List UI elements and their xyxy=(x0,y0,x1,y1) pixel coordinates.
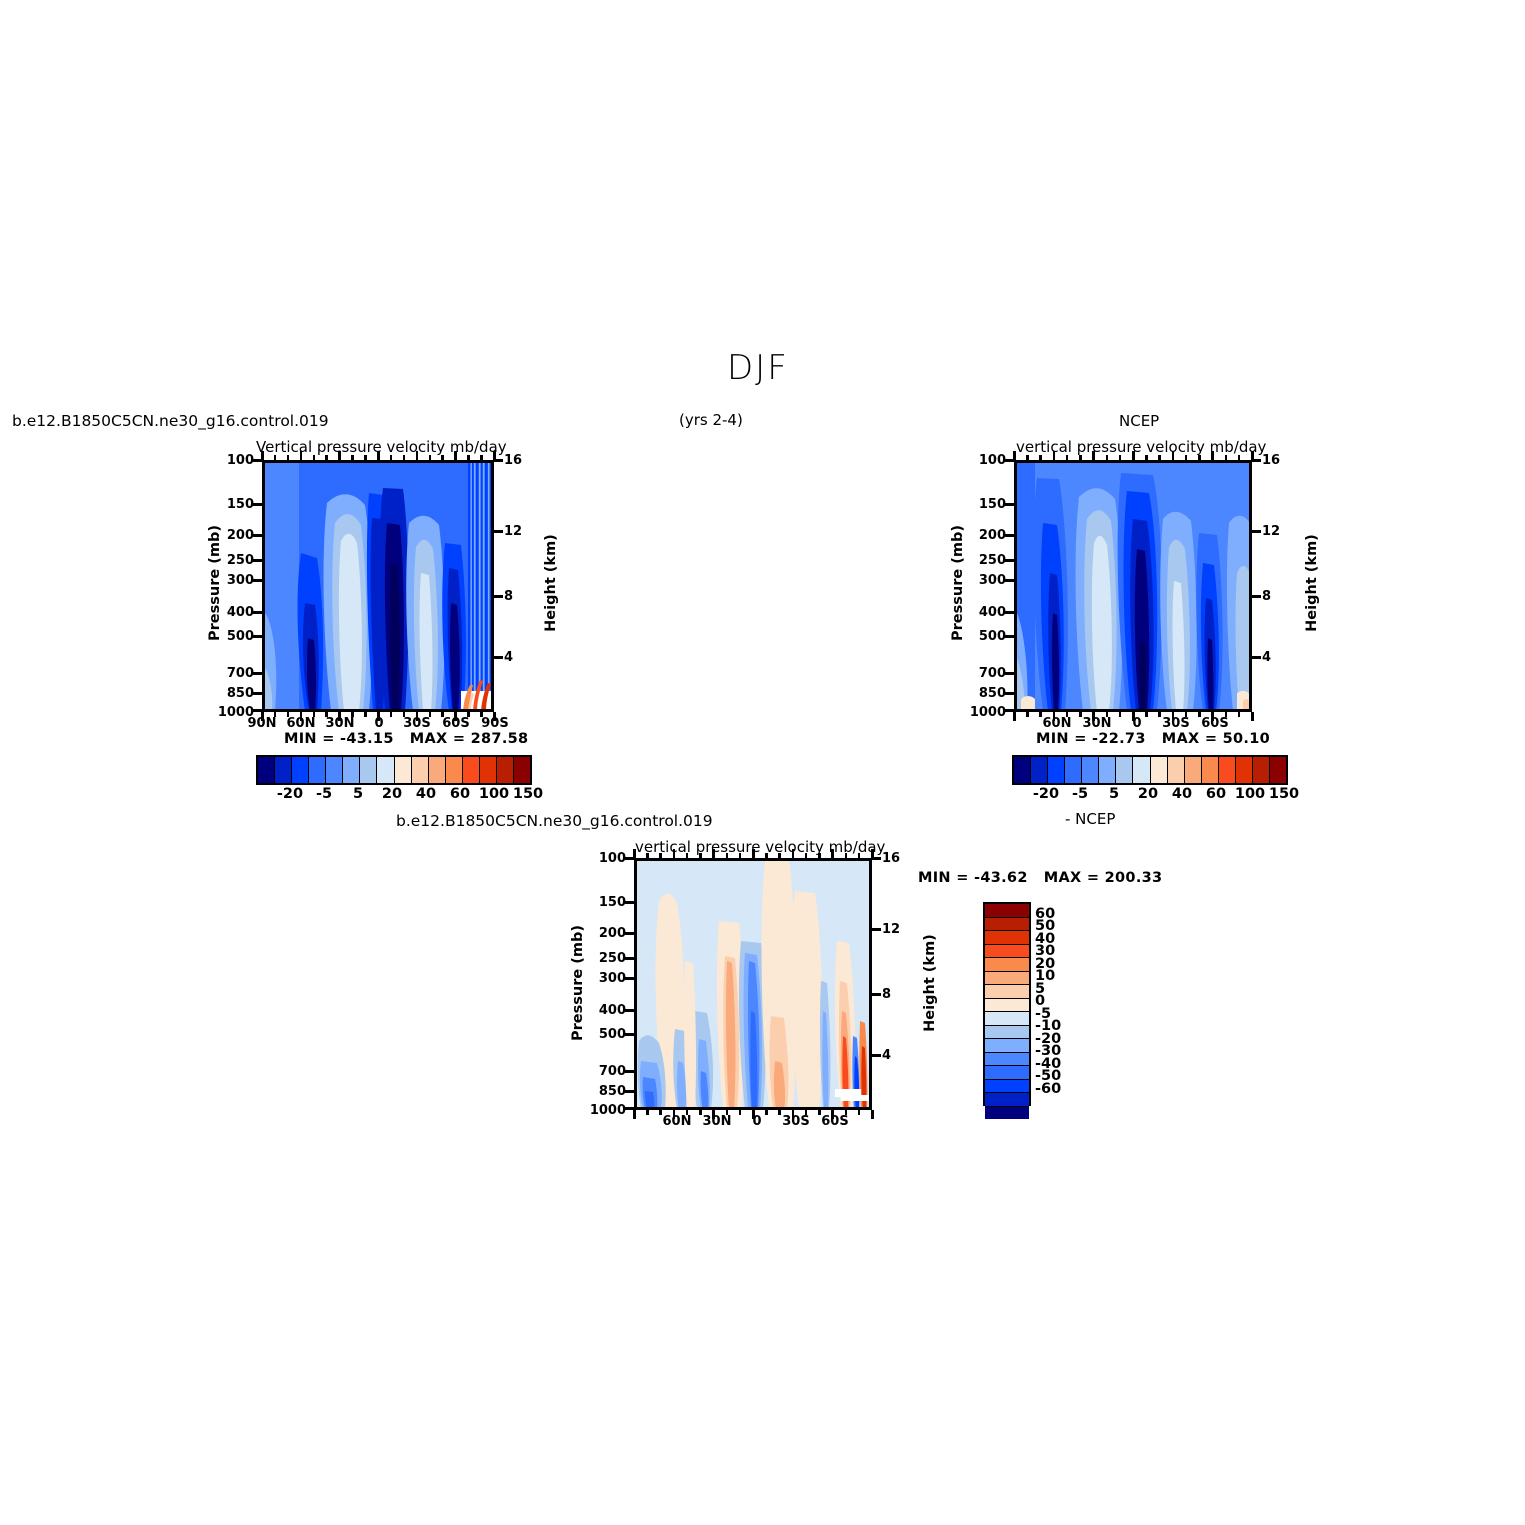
axis-tick xyxy=(1053,451,1056,460)
axis-tick xyxy=(1211,712,1214,721)
obs-contour-field xyxy=(1017,463,1251,711)
colorbar-cell xyxy=(1202,757,1219,783)
model-max-value: 287.58 xyxy=(471,731,529,747)
axis-tick xyxy=(403,455,406,460)
axis-tick xyxy=(765,1110,768,1115)
axis-tick xyxy=(416,712,419,721)
axis-tick xyxy=(377,712,380,721)
axis-tick xyxy=(1026,455,1029,460)
model-min-value: -43.15 xyxy=(340,731,394,747)
model-case-name: b.e12.B1850C5CN.ne30_g16.control.019 xyxy=(12,412,329,430)
axis-tick xyxy=(1066,712,1069,717)
axis-tick xyxy=(416,451,419,460)
axis-tick xyxy=(1225,455,1228,460)
colorbar-cell xyxy=(275,757,292,783)
colorbar-cell xyxy=(985,1066,1029,1080)
model-colorbar-labels: -20-55204060100150 xyxy=(256,786,532,806)
axis-tick xyxy=(467,712,470,717)
axis-tick xyxy=(1238,712,1241,717)
axis-tick xyxy=(739,1110,742,1115)
axis-tick xyxy=(1238,455,1241,460)
obs-ylabel-left: Pressure (mb) xyxy=(950,513,966,653)
axis-tick xyxy=(1092,712,1095,721)
colorbar-cell xyxy=(985,972,1029,986)
colorbar-cell xyxy=(292,757,309,783)
colorbar-cell xyxy=(985,958,1029,972)
axis-tick xyxy=(872,1054,881,1057)
axis-tick xyxy=(625,932,634,935)
axis-tick xyxy=(858,1110,861,1115)
colorbar-cell xyxy=(446,757,463,783)
axis-tick xyxy=(673,849,676,858)
axis-tick xyxy=(1158,712,1161,717)
colorbar-cell xyxy=(985,931,1029,945)
axis-tick xyxy=(625,1009,634,1012)
axis-tick xyxy=(1106,712,1109,717)
colorbar-cell xyxy=(985,1107,1029,1120)
axis-tick xyxy=(325,455,328,460)
axis-tick xyxy=(872,928,881,931)
colorbar-cell xyxy=(377,757,394,783)
axis-tick xyxy=(494,656,503,659)
axis-tick xyxy=(253,579,262,582)
colorbar-cell xyxy=(497,757,514,783)
axis-tick xyxy=(805,853,808,858)
axis-tick xyxy=(1092,451,1095,460)
axis-tick xyxy=(1039,455,1042,460)
axis-tick xyxy=(1225,712,1228,717)
model-min-label: MIN = xyxy=(284,731,335,747)
axis-tick xyxy=(338,451,341,460)
axis-tick xyxy=(1252,656,1261,659)
axis-tick xyxy=(253,635,262,638)
axis-tick xyxy=(726,1110,729,1115)
axis-tick xyxy=(845,1110,848,1115)
axis-tick xyxy=(1005,459,1014,462)
axis-tick xyxy=(253,709,262,712)
axis-tick xyxy=(441,712,444,717)
axis-tick xyxy=(871,1110,874,1119)
axis-tick xyxy=(792,849,795,858)
model-field-header: Vertical pressure velocity mb/day xyxy=(256,438,507,456)
colorbar-cell xyxy=(1253,757,1270,783)
colorbar-cell xyxy=(985,918,1029,932)
colorbar-cell xyxy=(1185,757,1202,783)
figure-title: DJF xyxy=(727,348,789,388)
axis-tick xyxy=(1211,451,1214,460)
diff-plot-frame xyxy=(634,858,872,1110)
colorbar-cell xyxy=(1133,757,1150,783)
axis-tick xyxy=(390,712,393,717)
obs-plot-frame xyxy=(1014,460,1252,712)
axis-tick xyxy=(1185,455,1188,460)
diff-contour-field xyxy=(637,861,871,1109)
colorbar-cell xyxy=(258,757,275,783)
axis-tick xyxy=(313,455,316,460)
axis-tick xyxy=(253,559,262,562)
axis-tick xyxy=(454,451,457,460)
axis-tick xyxy=(625,1107,634,1110)
obs-min-value: -22.73 xyxy=(1092,731,1146,747)
axis-tick xyxy=(1185,712,1188,717)
axis-tick xyxy=(441,455,444,460)
axis-tick xyxy=(493,712,496,721)
axis-tick xyxy=(1198,712,1201,717)
colorbar-cell xyxy=(326,757,343,783)
axis-tick xyxy=(1013,712,1016,721)
colorbar-cell xyxy=(412,757,429,783)
axis-tick xyxy=(287,455,290,460)
diff-colorbar-labels: 60504030201050-5-10-20-30-40-50-60 xyxy=(1031,902,1071,1102)
axis-tick xyxy=(261,712,264,721)
axis-tick xyxy=(625,1090,634,1093)
colorbar-cell xyxy=(343,757,360,783)
axis-tick xyxy=(659,1110,662,1115)
axis-tick xyxy=(1132,451,1135,460)
axis-tick xyxy=(325,712,328,717)
axis-tick xyxy=(778,853,781,858)
axis-tick xyxy=(1132,712,1135,721)
axis-tick xyxy=(1145,455,1148,460)
axis-tick xyxy=(625,857,634,860)
diff-ylabel-left: Pressure (mb) xyxy=(570,913,586,1053)
axis-tick xyxy=(625,901,634,904)
axis-tick xyxy=(1005,534,1014,537)
axis-tick xyxy=(1252,530,1261,533)
axis-tick xyxy=(494,459,503,462)
axis-tick xyxy=(351,712,354,717)
axis-tick xyxy=(818,853,821,858)
colorbar-cell xyxy=(985,1012,1029,1026)
axis-tick xyxy=(253,611,262,614)
axis-tick xyxy=(818,1110,821,1115)
model-ylabel-left: Pressure (mb) xyxy=(207,513,223,653)
colorbar-cell xyxy=(463,757,480,783)
model-minmax: MIN = -43.15 MAX = 287.58 xyxy=(284,731,528,747)
axis-tick xyxy=(765,853,768,858)
axis-tick xyxy=(1005,709,1014,712)
axis-tick xyxy=(752,849,755,858)
axis-tick xyxy=(351,455,354,460)
colorbar-cell xyxy=(985,1026,1029,1040)
colorbar-cell xyxy=(1031,757,1048,783)
diff-max-label: MAX = xyxy=(1044,870,1100,886)
axis-tick xyxy=(454,712,457,721)
axis-tick xyxy=(1005,692,1014,695)
axis-tick xyxy=(429,455,432,460)
axis-tick xyxy=(1252,459,1261,462)
axis-tick xyxy=(872,993,881,996)
colorbar-cell xyxy=(985,999,1029,1013)
axis-tick xyxy=(1005,672,1014,675)
axis-tick xyxy=(253,672,262,675)
axis-tick xyxy=(1172,712,1175,721)
axis-tick xyxy=(872,857,881,860)
axis-tick xyxy=(1005,635,1014,638)
colorbar-cell xyxy=(480,757,497,783)
axis-tick xyxy=(646,853,649,858)
axis-tick xyxy=(1005,559,1014,562)
colorbar-cell xyxy=(514,757,530,783)
axis-tick xyxy=(253,503,262,506)
colorbar-cell xyxy=(985,1053,1029,1067)
colorbar-cell xyxy=(1236,757,1253,783)
axis-tick xyxy=(1252,595,1261,598)
axis-tick xyxy=(831,1110,834,1119)
axis-tick xyxy=(633,1110,636,1119)
axis-tick xyxy=(364,712,367,717)
axis-tick xyxy=(274,455,277,460)
axis-tick xyxy=(625,1070,634,1073)
axis-tick xyxy=(831,849,834,858)
axis-tick xyxy=(712,849,715,858)
diff-max-value: 200.33 xyxy=(1105,870,1163,886)
axis-tick xyxy=(1005,611,1014,614)
axis-tick xyxy=(1079,455,1082,460)
colorbar-cell xyxy=(985,1093,1029,1107)
axis-tick xyxy=(364,455,367,460)
obs-colorbar-labels: -20-55204060100150 xyxy=(1012,786,1288,806)
axis-tick xyxy=(1158,455,1161,460)
model-contour-field xyxy=(265,463,493,711)
colorbar-cell xyxy=(1270,757,1286,783)
years-label: (yrs 2-4) xyxy=(679,411,743,429)
axis-tick xyxy=(274,712,277,717)
axis-tick xyxy=(1145,712,1148,717)
colorbar-cell xyxy=(1082,757,1099,783)
axis-tick xyxy=(1039,712,1042,717)
axis-tick xyxy=(429,712,432,717)
axis-tick xyxy=(1198,455,1201,460)
colorbar-cell xyxy=(1151,757,1168,783)
axis-tick xyxy=(480,455,483,460)
obs-max-label: MAX = xyxy=(1162,731,1218,747)
axis-tick xyxy=(805,1110,808,1115)
axis-tick xyxy=(686,1110,689,1115)
colorbar-cell xyxy=(1065,757,1082,783)
axis-tick xyxy=(1119,455,1122,460)
axis-tick xyxy=(390,455,393,460)
diff-ylabel-right: Height (km) xyxy=(922,913,938,1053)
colorbar-cell xyxy=(985,985,1029,999)
axis-tick xyxy=(686,853,689,858)
diff-case-name: b.e12.B1850C5CN.ne30_g16.control.019 xyxy=(396,812,713,830)
model-ylabel-right: Height (km) xyxy=(543,513,559,653)
diff-min-label: MIN = xyxy=(918,870,969,886)
obs-max-value: 50.10 xyxy=(1223,731,1270,747)
axis-tick xyxy=(858,853,861,858)
axis-tick xyxy=(625,957,634,960)
colorbar-cell xyxy=(1014,757,1031,783)
colorbar-tick-label: -60 xyxy=(1035,1081,1069,1097)
axis-tick xyxy=(646,1110,649,1115)
colorbar-cell xyxy=(1099,757,1116,783)
axis-tick xyxy=(845,853,848,858)
axis-tick xyxy=(739,853,742,858)
colorbar-cell xyxy=(985,945,1029,959)
axis-tick xyxy=(752,1110,755,1119)
axis-tick xyxy=(673,1110,676,1119)
axis-tick xyxy=(778,1110,781,1115)
axis-tick xyxy=(300,451,303,460)
axis-tick xyxy=(253,459,262,462)
diff-min-value: -43.62 xyxy=(974,870,1028,886)
colorbar-cell xyxy=(1048,757,1065,783)
obs-minmax: MIN = -22.73 MAX = 50.10 xyxy=(1036,731,1270,747)
colorbar-cell xyxy=(395,757,412,783)
axis-tick xyxy=(480,712,483,717)
obs-ylabel-right: Height (km) xyxy=(1304,513,1320,653)
model-plot-frame xyxy=(262,460,494,712)
axis-tick xyxy=(1172,451,1175,460)
diff-colorbar xyxy=(983,902,1031,1106)
colorbar-cell xyxy=(1116,757,1133,783)
axis-tick xyxy=(1106,455,1109,460)
colorbar-cell xyxy=(1168,757,1185,783)
colorbar-cell xyxy=(309,757,326,783)
axis-tick xyxy=(313,712,316,717)
axis-tick xyxy=(712,1110,715,1119)
obs-colorbar xyxy=(1012,755,1288,785)
axis-tick xyxy=(403,712,406,717)
axis-tick xyxy=(1079,712,1082,717)
axis-tick xyxy=(300,712,303,721)
axis-tick xyxy=(494,595,503,598)
axis-tick xyxy=(699,853,702,858)
axis-tick xyxy=(792,1110,795,1119)
axis-tick xyxy=(338,712,341,721)
axis-tick xyxy=(726,853,729,858)
model-max-label: MAX = xyxy=(410,731,466,747)
axis-tick xyxy=(1066,455,1069,460)
axis-tick xyxy=(625,1033,634,1036)
axis-tick xyxy=(377,451,380,460)
colorbar-tick-label: 150 xyxy=(506,786,550,802)
axis-tick xyxy=(467,455,470,460)
colorbar-cell xyxy=(985,1080,1029,1094)
axis-tick xyxy=(1119,712,1122,717)
axis-tick xyxy=(625,977,634,980)
model-colorbar xyxy=(256,755,532,785)
axis-tick xyxy=(253,534,262,537)
axis-tick xyxy=(1026,712,1029,717)
axis-tick xyxy=(1005,579,1014,582)
axis-tick xyxy=(494,530,503,533)
axis-tick xyxy=(699,1110,702,1115)
diff-minmax: MIN = -43.62 MAX = 200.33 xyxy=(918,870,1162,886)
axis-tick xyxy=(659,853,662,858)
axis-tick xyxy=(1053,712,1056,721)
colorbar-cell xyxy=(360,757,377,783)
axis-tick xyxy=(253,692,262,695)
colorbar-cell xyxy=(985,904,1029,918)
axis-tick xyxy=(1251,712,1254,721)
colorbar-cell xyxy=(1219,757,1236,783)
obs-title: NCEP xyxy=(1119,412,1159,430)
colorbar-tick-label: 150 xyxy=(1262,786,1306,802)
axis-tick xyxy=(1005,503,1014,506)
colorbar-cell xyxy=(429,757,446,783)
colorbar-cell xyxy=(985,1039,1029,1053)
axis-tick xyxy=(287,712,290,717)
obs-min-label: MIN = xyxy=(1036,731,1087,747)
diff-caption: - NCEP xyxy=(1065,810,1115,828)
